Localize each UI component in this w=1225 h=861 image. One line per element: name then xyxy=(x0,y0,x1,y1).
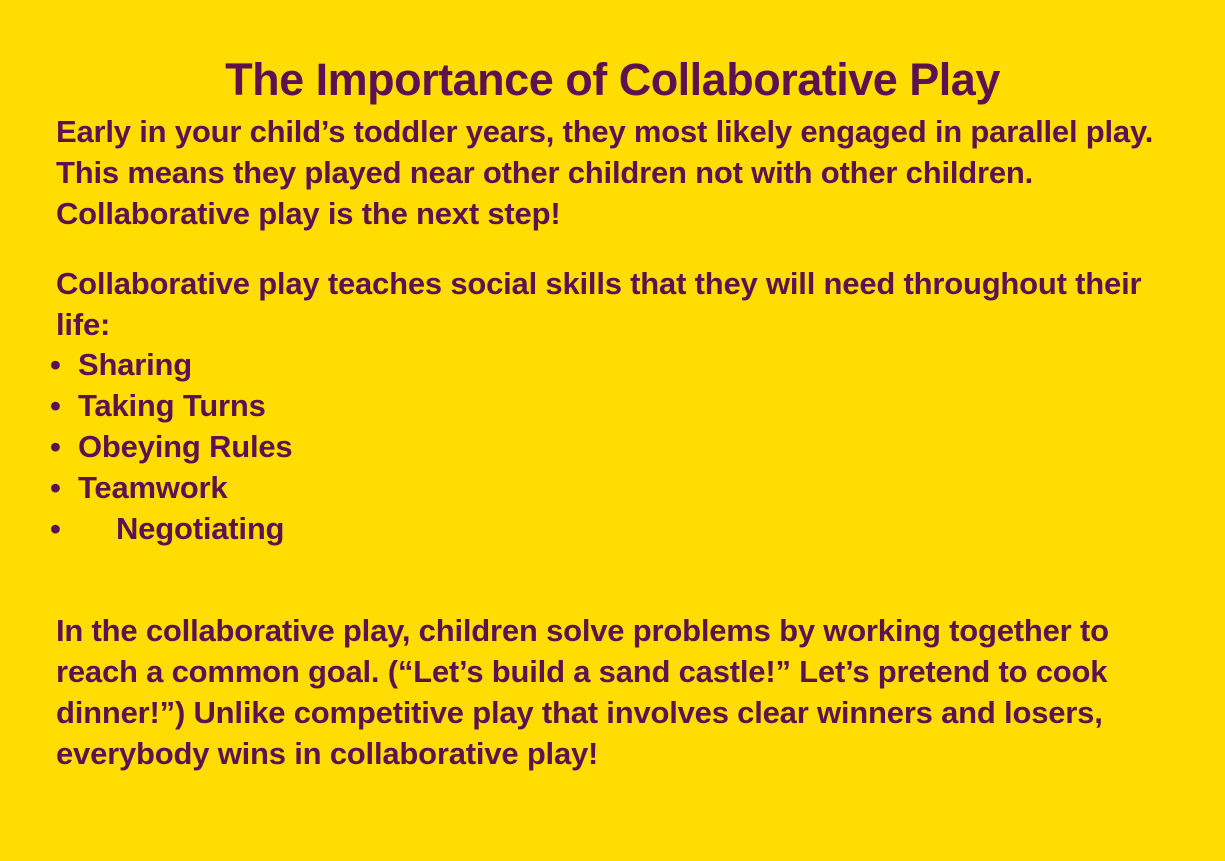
paragraph-intro: Early in your child’s toddler years, the… xyxy=(56,111,1161,234)
list-item-label: Taking Turns xyxy=(78,385,266,426)
list-item-label: Negotiating xyxy=(78,508,284,549)
bullet-icon: • xyxy=(50,508,78,549)
list-item: • Teamwork xyxy=(50,467,750,508)
bullet-icon: • xyxy=(50,467,78,508)
slide-canvas: The Importance of Collaborative Play Ear… xyxy=(0,0,1225,861)
list-item-label: Sharing xyxy=(78,344,192,385)
list-item: • Sharing xyxy=(50,344,750,385)
list-item: • Obeying Rules xyxy=(50,426,750,467)
list-item: • Taking Turns xyxy=(50,385,750,426)
list-item: • Negotiating xyxy=(50,508,750,549)
list-item-label: Obeying Rules xyxy=(78,426,292,467)
page-title: The Importance of Collaborative Play xyxy=(0,52,1225,108)
bullet-icon: • xyxy=(50,426,78,467)
paragraph-lead-in: Collaborative play teaches social skills… xyxy=(56,263,1161,345)
social-skills-bullet-list: • Sharing • Taking Turns • Obeying Rules… xyxy=(50,344,750,549)
bullet-icon: • xyxy=(50,344,78,385)
bullet-icon: • xyxy=(50,385,78,426)
paragraph-closing: In the collaborative play, children solv… xyxy=(56,610,1161,774)
list-item-label: Teamwork xyxy=(78,467,227,508)
